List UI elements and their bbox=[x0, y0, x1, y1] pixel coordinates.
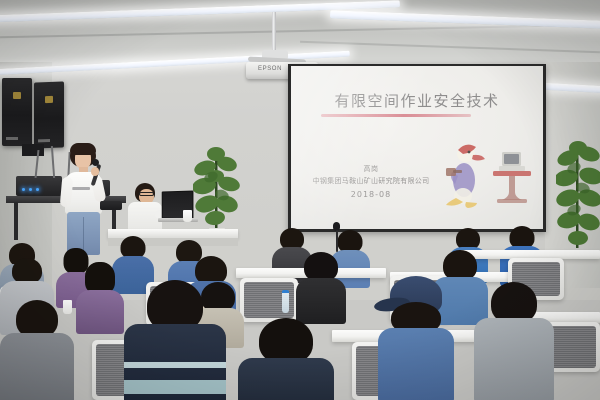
slide-date: 2018-08 bbox=[291, 190, 451, 199]
ceiling-seam bbox=[0, 24, 600, 39]
projection-screen: 有限空间作业安全技术 高岗 中钢集团马鞍山矿山研究院有限公司 bbox=[291, 66, 543, 229]
polo-stripe bbox=[124, 380, 226, 394]
attendee-torso bbox=[474, 318, 554, 400]
speaker-badge-icon bbox=[13, 92, 21, 99]
slide-title: 有限空间作业安全技术 bbox=[291, 90, 543, 111]
wall-speaker bbox=[34, 81, 64, 148]
speaker-wall-bracket bbox=[22, 144, 44, 156]
status-led-icon bbox=[22, 188, 25, 191]
microphone-receiver-box bbox=[100, 201, 122, 210]
polo-stripe bbox=[124, 362, 226, 368]
attendee-front-grey-jacket bbox=[474, 282, 554, 400]
projector-brand-label: EPSON bbox=[258, 66, 282, 72]
presenter-shirt-print bbox=[72, 187, 90, 190]
slide-presenter-name: 高岗 bbox=[291, 164, 451, 174]
water-bottle bbox=[282, 290, 289, 313]
av-table-leg bbox=[14, 202, 18, 240]
potted-plant-icon bbox=[193, 142, 241, 238]
mesh-chair[interactable] bbox=[240, 278, 298, 322]
eyeglasses-icon bbox=[139, 192, 154, 196]
speaker-badge-icon bbox=[45, 96, 53, 103]
computer-on-table-clipart-icon bbox=[489, 148, 535, 206]
speaker-brand-tag bbox=[38, 139, 50, 142]
speaker-brand-tag bbox=[6, 137, 18, 140]
presenter-fringe bbox=[70, 143, 96, 155]
presenter-hand bbox=[91, 167, 99, 176]
attendee-torso bbox=[0, 333, 74, 400]
slide-title-underline bbox=[321, 114, 471, 117]
attendee-front-center-dark bbox=[238, 318, 334, 400]
projector-mount-pole bbox=[272, 12, 276, 54]
attendee-torso bbox=[76, 290, 124, 334]
attendee-front-cap bbox=[378, 276, 454, 400]
laptop-operator bbox=[125, 183, 195, 231]
gooseneck-microphone bbox=[336, 230, 338, 252]
status-led-icon bbox=[29, 188, 32, 191]
paper-cup bbox=[183, 210, 192, 222]
conference-room-photo: EPSON 有限空间作业安全技术 bbox=[0, 0, 600, 400]
wall-speaker bbox=[2, 78, 32, 146]
slide-organization: 中钢集团马鞍山矿山研究院有限公司 bbox=[291, 176, 451, 186]
attendee-torso bbox=[378, 328, 454, 400]
attendee-mid-black-tee bbox=[296, 252, 346, 322]
potted-plant-icon bbox=[556, 138, 600, 258]
status-led-icon bbox=[36, 188, 39, 191]
attendee-mid-woman bbox=[76, 262, 124, 332]
attendee-front-left bbox=[0, 300, 74, 400]
attendee-front-striped-polo bbox=[124, 280, 226, 400]
attendee-torso bbox=[238, 358, 334, 400]
laptop-keyboard-base bbox=[158, 218, 198, 222]
ceiling bbox=[0, 0, 600, 62]
presenter-speaker bbox=[56, 143, 110, 255]
